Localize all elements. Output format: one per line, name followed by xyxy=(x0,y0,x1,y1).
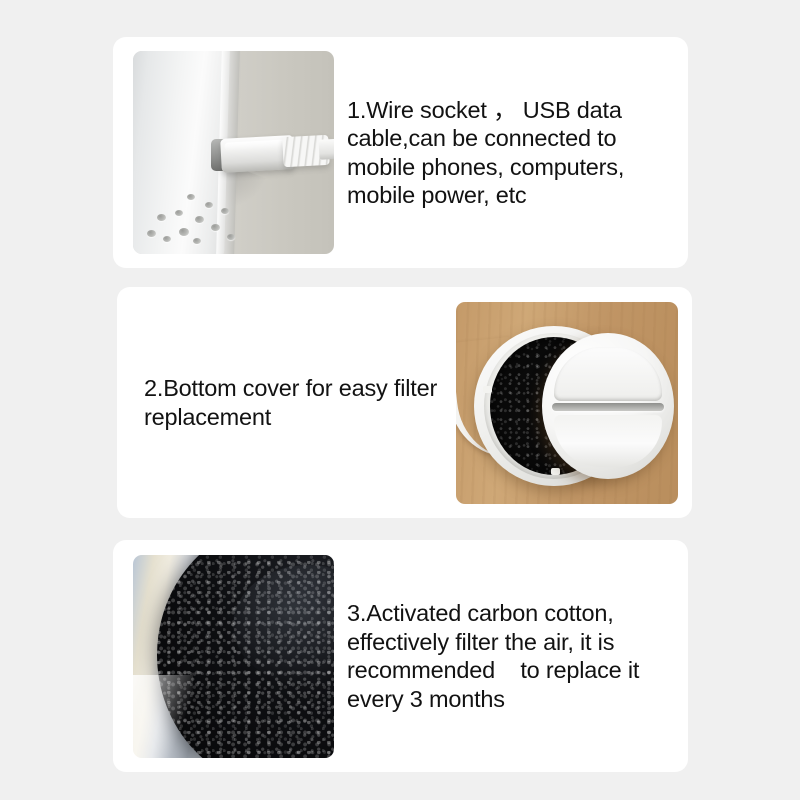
cover-slot xyxy=(552,403,664,411)
cover-top-half xyxy=(554,347,662,401)
feature-card-wire-socket[interactable]: 1.Wire socket ， USB data cable,can be co… xyxy=(113,37,688,268)
ventilation-holes xyxy=(143,186,238,248)
activated-carbon-photo xyxy=(133,555,334,758)
feature-card-bottom-cover[interactable]: 2.Bottom cover for easy filter replaceme… xyxy=(117,287,692,518)
card-content-row: 3.Activated carbon cotton, effectively f… xyxy=(113,540,688,772)
cover-bottom-half xyxy=(554,415,662,467)
base-notch-left xyxy=(483,386,492,393)
card-content-row: 1.Wire socket ， USB data cable,can be co… xyxy=(113,37,688,268)
bottom-cover-photo xyxy=(456,302,678,504)
card-content-row: 2.Bottom cover for easy filter replaceme… xyxy=(117,287,692,518)
card-caption: 3.Activated carbon cotton, effectively f… xyxy=(334,599,688,713)
base-notch-bottom xyxy=(551,468,560,475)
card-caption: 2.Bottom cover for easy filter replaceme… xyxy=(117,374,456,431)
card-caption: 1.Wire socket ， USB data cable,can be co… xyxy=(334,96,688,210)
feature-card-list: 1.Wire socket ， USB data cable,can be co… xyxy=(0,0,800,800)
usb-cable xyxy=(318,138,334,160)
left-edge-highlight xyxy=(133,675,193,758)
wire-socket-photo xyxy=(133,51,334,254)
feature-card-activated-carbon[interactable]: 3.Activated carbon cotton, effectively f… xyxy=(113,540,688,772)
removable-cover xyxy=(542,333,674,479)
